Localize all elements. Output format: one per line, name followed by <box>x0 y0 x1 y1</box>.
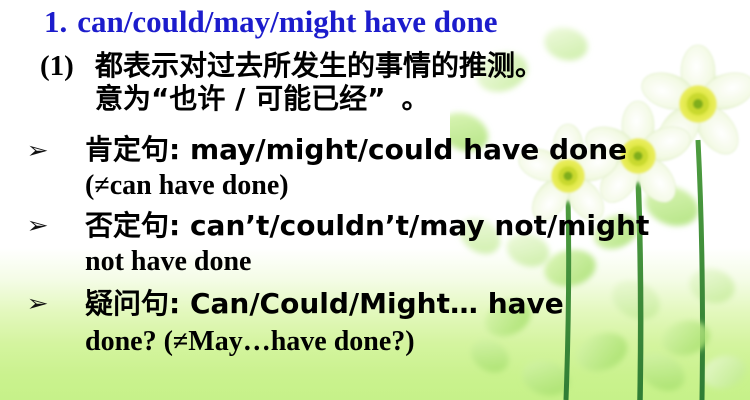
point-4-line-2: done? (≠May…have done?) <box>85 328 415 356</box>
slide-text-content: 1.can/could/may/might have done (1) 都表示对… <box>0 0 750 400</box>
point-2-line-2: (≠can have done) <box>85 172 289 200</box>
slide-title: 1.can/could/may/might have done <box>44 6 498 37</box>
arrow-bullet-icon-3: ➢ <box>27 293 49 316</box>
title-text: can/could/may/might have done <box>77 4 497 39</box>
point-3-line-2: not have done <box>85 248 251 276</box>
point-1-line-1: 都表示对过去所发生的事情的推测。 <box>95 52 543 80</box>
point-1-line-2: 意为“也许 / 可能已经”。 <box>95 85 430 113</box>
point-4-line-1: 疑问句: Can/Could/Might… have <box>85 290 564 318</box>
list-marker-number-1: (1) <box>40 52 74 81</box>
title-number: 1. <box>44 4 67 39</box>
slide-canvas: 1.can/could/may/might have done (1) 都表示对… <box>0 0 750 400</box>
arrow-bullet-icon-2: ➢ <box>27 215 49 238</box>
point-2-line-1: 肯定句: may/might/could have done <box>85 136 627 164</box>
arrow-bullet-icon-1: ➢ <box>27 140 49 163</box>
point-1-line-2-text: 意为“也许 / 可能已经” <box>95 82 386 115</box>
point-1-line-2-period: 。 <box>402 82 430 115</box>
point-3-line-1: 否定句: can’t/couldn’t/may not/might <box>85 212 649 240</box>
